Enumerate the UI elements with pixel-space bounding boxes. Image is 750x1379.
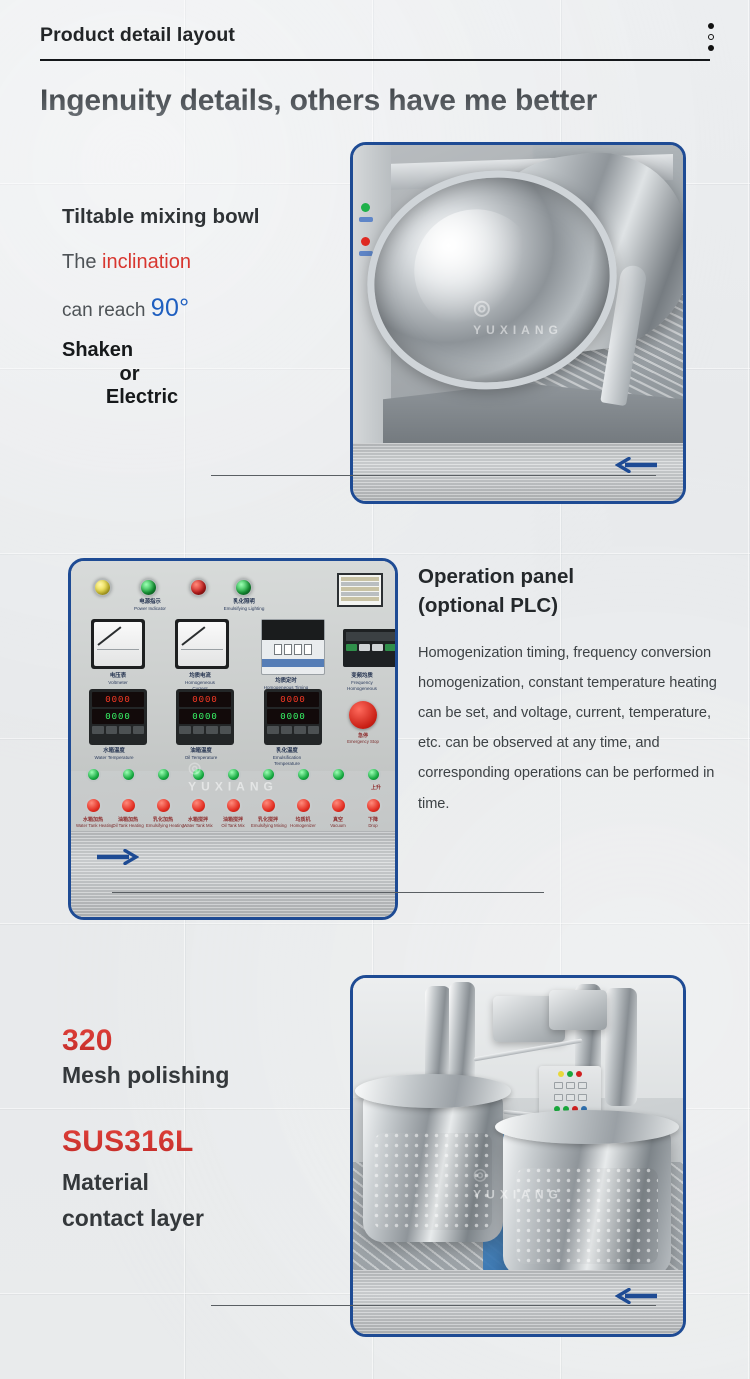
headline: Ingenuity details, others have me better [40,84,740,118]
tank-right-lid [495,1110,679,1144]
section-2-image-panel[interactable]: 电源指示 Power Indicator 乳化照明 Emulsifying Li… [68,558,398,920]
mini-display-row-2 [539,1094,601,1101]
timer-footer [262,659,324,667]
section-1-line3-prefix: can reach [62,300,151,321]
mini-lamp-row [539,1071,601,1077]
section-1-image-panel[interactable]: ◎ YUXIANG [350,142,686,504]
rise-label-cn: 上升 [359,785,393,791]
status-led-red [361,237,370,246]
voltmeter-gauge [91,619,145,669]
drive-motor-2 [549,990,607,1030]
indicator-lamp-yellow [93,578,112,597]
section-1-highlight: inclination [102,251,191,273]
button-emulsifying-mixing[interactable] [260,797,277,814]
status-led-green [361,203,370,212]
section-3-mesh-label: Mesh polishing [62,1062,362,1089]
emergency-stop-button[interactable] [349,701,377,729]
emulsify-temp-set: 0000 [267,709,319,724]
mini-display-row [539,1082,601,1089]
section-1-drive-options: Shaken or Electric [62,339,352,410]
voltmeter-label-cn: 电压表 [95,673,141,680]
drive-option-1: Shaken [62,339,352,363]
tank-left-lid [355,1074,511,1108]
timer-digits [262,644,324,655]
green-light-7 [296,767,311,782]
oil-temp-label-cn: 油箱温度 [178,748,224,755]
frequency-inverter[interactable] [343,629,398,667]
water-temp-keys[interactable] [92,726,144,734]
lamp-label-lighting-en: Emulsifying Lighting [224,606,265,611]
arrow-left-icon[interactable] [615,1288,659,1304]
section-2-heading: Operation panel (optional PLC) [418,562,718,620]
lamp-label-lighting-cn: 乳化照明 [221,599,267,606]
green-light-4 [191,767,206,782]
product-detail-page: Product detail layout Ingenuity details,… [0,0,750,1379]
section-3-material-value: SUS316L [62,1125,362,1159]
emulsify-temp-label-cn: 乳化温度 [264,748,310,755]
green-light-2 [121,767,136,782]
indicator-lamp-green-power [139,578,158,597]
mixer-column-right-2 [605,988,637,1106]
inverter-screen [346,632,396,641]
water-temp-set: 0000 [92,709,144,724]
section-1-line2-prefix: The [62,251,102,273]
lamp-label-power: 电源指示 Power Indicator [127,599,173,612]
label-emulsifying-mixing: 乳化搅拌 Emulsifying Mixing [251,817,285,829]
rise-label: 上升 [359,785,393,791]
lamp-label-lighting: 乳化照明 Emulsifying Lighting [221,599,267,612]
green-light-9 [366,767,381,782]
kebab-dot-bottom [708,45,714,51]
button-oil-tank-mix[interactable] [225,797,242,814]
homogenizing-timer[interactable] [261,619,325,675]
emulsify-temp-keys[interactable] [267,726,319,734]
water-temp-value: 0000 [92,692,144,707]
voltmeter-label: 电压表 Voltmeter [95,673,141,686]
section-2-heading-line1: Operation panel [418,565,574,588]
section-2-connector-line [112,892,544,893]
emulsify-temp-controller[interactable]: 0000 0000 [264,689,322,745]
page-header: Product detail layout [0,0,750,62]
label-water-tank-mix: 水箱搅拌 Water Tank Mix [181,817,215,829]
lamp-label-power-cn: 电源指示 [127,599,173,606]
machine-nameplate [337,573,383,607]
section-2-text: Operation panel (optional PLC) Homogeniz… [418,562,718,819]
green-light-5 [226,767,241,782]
drive-option-conjunction: or [62,363,197,387]
timer-label-cn: 均质定时 [263,678,309,685]
button-homogenizer[interactable] [295,797,312,814]
button-water-tank-mix[interactable] [190,797,207,814]
current-gauge [175,619,229,669]
header-divider [40,59,710,61]
section-1-text: Tiltable mixing bowl The inclination can… [62,205,352,410]
section-3-text: 320 Mesh polishing SUS316L Material cont… [62,1024,362,1236]
label-drop: 下降 Drop [356,817,390,829]
tank-left-surface [374,1133,492,1230]
oil-temp-value: 0000 [179,692,231,707]
current-label-cn: 均质电流 [177,673,223,680]
section-1-connector-line [211,475,656,476]
page-title: Product detail layout [40,24,235,47]
green-light-8 [331,767,346,782]
tank-right-surface [516,1168,657,1264]
tank-right [503,1126,671,1276]
inverter-label: 变频均质 Frequency Homogeneous [339,673,385,692]
section-1-line2: The inclination [62,251,352,274]
water-temp-label-en: Water Temperature [94,755,133,760]
section-2-paragraph: Homogenization timing, frequency convers… [418,638,718,818]
voltmeter-face [94,622,142,666]
emulsify-temp-label-en: Emulsification Temperature [273,755,301,766]
label-emulsifying-heating: 乳化加热 Emulsifying Heating [146,817,180,829]
oil-temp-set: 0000 [179,709,231,724]
emulsify-temp-label: 乳化温度 Emulsification Temperature [264,748,310,767]
green-light-6 [261,767,276,782]
arrow-right-icon[interactable] [95,849,139,865]
indicator-lamp-green-light [234,578,253,597]
timer-display [262,620,324,640]
section-2-heading-line2: (optional PLC) [418,594,558,617]
button-emulsifying-heating[interactable] [155,797,172,814]
voltmeter-label-en: Voltmeter [108,680,127,685]
oil-temp-keys[interactable] [179,726,231,734]
tanks-photo: ◎ YUXIANG [353,978,683,1334]
section-3-mesh-value: 320 [62,1024,362,1058]
inverter-keys [346,644,396,651]
water-temp-label: 水箱温度 Water Temperature [91,748,137,761]
led-bar-1 [359,217,373,222]
green-light-3 [156,767,171,782]
photo-2-bottom-plate [71,831,395,917]
oil-temp-label: 油箱温度 Oil Temperature [178,748,224,761]
label-vacuum: 真空 Vacuum [321,817,355,829]
water-temp-label-cn: 水箱温度 [91,748,137,755]
label-oil-tank-heating: 油箱加热 Oil Tank Heating [111,817,145,829]
water-temp-controller[interactable]: 0000 0000 [89,689,147,745]
control-panel-photo: 电源指示 Power Indicator 乳化照明 Emulsifying Li… [71,561,395,917]
section-3-image-panel[interactable]: ◎ YUXIANG [350,975,686,1337]
label-water-tank-heating: 水箱加热 Water Tank Heating [76,817,110,829]
emergency-stop-label: 急停 Emergency Stop [343,733,383,745]
current-gauge-face [178,622,226,666]
estop-label-en: Emergency Stop [347,739,379,744]
kebab-dot-top [708,23,714,29]
section-3-material-line1: Material [62,1169,149,1195]
tilting-bowl-photo: ◎ YUXIANG [353,145,683,501]
drive-option-2: Electric [62,386,222,410]
arrow-left-icon[interactable] [615,457,659,473]
button-oil-tank-heating[interactable] [120,797,137,814]
emulsify-temp-value: 0000 [267,692,319,707]
kebab-menu-icon[interactable] [703,23,719,51]
button-vacuum[interactable] [330,797,347,814]
section-3-material-label: Material contact layer [62,1165,362,1236]
green-light-1 [86,767,101,782]
oil-temp-controller[interactable]: 0000 0000 [176,689,234,745]
section-1-line1: Tiltable mixing bowl [62,205,352,229]
inverter-label-cn: 变频均质 [339,673,385,680]
section-3-connector-line [211,1305,656,1306]
label-homogenizer: 均质机 Homogenizer [286,817,320,829]
label-oil-tank-mix: 油箱搅拌 Oil Tank Mix [216,817,250,829]
kebab-dot-middle [708,34,714,40]
tank-left [363,1090,503,1242]
button-drop[interactable] [365,797,382,814]
section-3-material-line2: contact layer [62,1205,204,1231]
indicator-lamp-red [189,578,208,597]
inverter-label-en: Frequency Homogeneous [347,680,377,691]
lamp-label-power-en: Power Indicator [134,606,166,611]
oil-temp-label-en: Oil Temperature [185,755,218,760]
section-1-angle-value: 90° [151,294,190,322]
button-water-tank-heating[interactable] [85,797,102,814]
section-1-line3: can reach 90° [62,294,352,323]
